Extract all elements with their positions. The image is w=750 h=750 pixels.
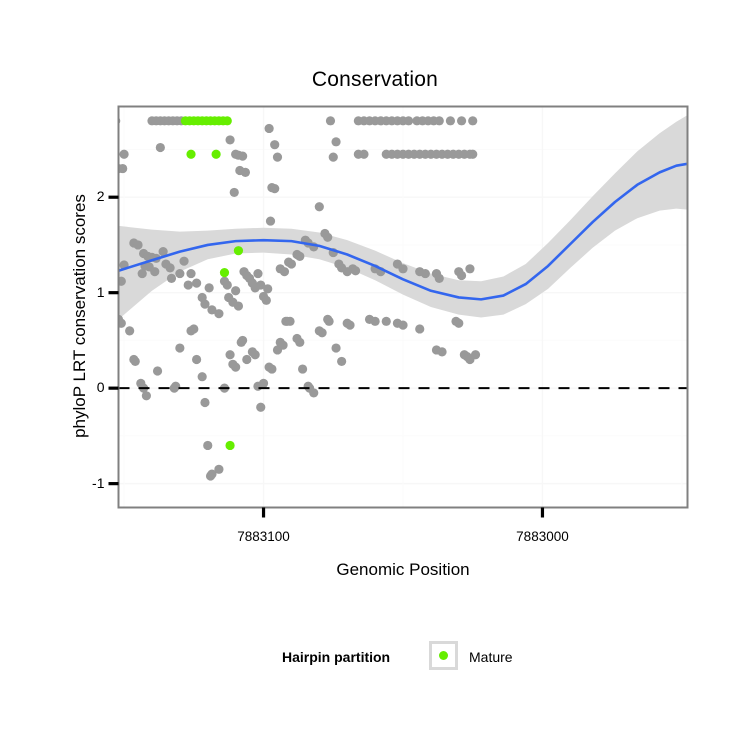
data-point xyxy=(133,240,142,249)
data-point xyxy=(298,364,307,373)
data-point xyxy=(214,309,223,318)
data-point xyxy=(192,279,201,288)
data-point xyxy=(267,364,276,373)
data-point xyxy=(415,324,424,333)
data-point xyxy=(238,336,247,345)
data-point xyxy=(100,116,109,125)
data-point xyxy=(468,150,477,159)
data-point xyxy=(171,382,180,391)
data-point xyxy=(205,283,214,292)
data-point xyxy=(337,357,346,366)
data-point xyxy=(189,324,198,333)
plot-canvas xyxy=(0,0,750,750)
data-point xyxy=(285,317,294,326)
data-point xyxy=(280,267,289,276)
data-point xyxy=(270,140,279,149)
data-point xyxy=(256,403,265,412)
data-point xyxy=(167,274,176,283)
legend-label-mature: Mature xyxy=(469,649,513,665)
data-point xyxy=(241,168,250,177)
data-point xyxy=(138,269,147,278)
data-point xyxy=(156,143,165,152)
data-point xyxy=(270,184,279,193)
data-point xyxy=(166,263,175,272)
data-point xyxy=(273,153,282,162)
data-point xyxy=(198,372,207,381)
data-point xyxy=(186,150,195,159)
data-point xyxy=(200,398,209,407)
data-point xyxy=(465,264,474,273)
data-point xyxy=(186,269,195,278)
data-point xyxy=(153,366,162,375)
data-point xyxy=(142,391,151,400)
data-point xyxy=(437,347,446,356)
data-point xyxy=(345,321,354,330)
data-point xyxy=(398,264,407,273)
data-point xyxy=(398,321,407,330)
data-point xyxy=(234,301,243,310)
y-axis-tick-label: -1 xyxy=(75,475,105,491)
data-point xyxy=(259,379,268,388)
data-point xyxy=(125,326,134,335)
legend-key-box xyxy=(429,641,458,670)
data-point xyxy=(175,269,184,278)
data-point xyxy=(220,268,229,277)
conservation-scatter-figure: Conservation phyloP LRT conservation sco… xyxy=(0,0,750,750)
data-point xyxy=(203,441,212,450)
data-point xyxy=(262,296,271,305)
data-point xyxy=(265,124,274,133)
data-point xyxy=(225,135,234,144)
data-point xyxy=(468,116,477,125)
data-point xyxy=(225,350,234,359)
data-point xyxy=(324,317,333,326)
y-axis-tick-label: 2 xyxy=(75,188,105,204)
legend-key-dot-mature xyxy=(439,651,448,660)
y-axis-tick-label: 1 xyxy=(75,284,105,300)
data-point xyxy=(184,280,193,289)
data-point xyxy=(266,216,275,225)
data-point xyxy=(238,152,247,161)
data-point xyxy=(251,350,260,359)
legend-title: Hairpin partition xyxy=(282,649,390,665)
data-point xyxy=(331,137,340,146)
data-point xyxy=(287,259,296,268)
data-point xyxy=(223,116,232,125)
data-point xyxy=(119,150,128,159)
x-axis-tick-label: 7883000 xyxy=(482,529,602,544)
data-point xyxy=(295,338,304,347)
data-point xyxy=(331,343,340,352)
data-point xyxy=(129,355,138,364)
data-point xyxy=(457,116,466,125)
data-point xyxy=(150,267,159,276)
data-point xyxy=(359,150,368,159)
data-point xyxy=(371,317,380,326)
data-point xyxy=(309,388,318,397)
data-point xyxy=(179,257,188,266)
data-point xyxy=(471,350,480,359)
data-point xyxy=(263,284,272,293)
data-point xyxy=(278,341,287,350)
data-point xyxy=(457,271,466,280)
y-axis-tick-label: 0 xyxy=(75,379,105,395)
data-point xyxy=(446,116,455,125)
data-point xyxy=(435,116,444,125)
data-point xyxy=(242,355,251,364)
data-point xyxy=(315,202,324,211)
data-point xyxy=(382,317,391,326)
data-point xyxy=(323,233,332,242)
data-point xyxy=(225,441,234,450)
data-point xyxy=(351,266,360,275)
data-point xyxy=(404,116,413,125)
data-point xyxy=(295,252,304,261)
data-point xyxy=(231,363,240,372)
data-point xyxy=(253,269,262,278)
data-point xyxy=(421,269,430,278)
data-point xyxy=(435,274,444,283)
data-point xyxy=(230,188,239,197)
data-point xyxy=(175,343,184,352)
data-point xyxy=(214,465,223,474)
data-point xyxy=(326,116,335,125)
data-point xyxy=(318,328,327,337)
x-axis-tick-label: 7883100 xyxy=(204,529,324,544)
data-point xyxy=(329,153,338,162)
data-point xyxy=(192,355,201,364)
data-point xyxy=(223,280,232,289)
data-point xyxy=(234,246,243,255)
data-point xyxy=(212,150,221,159)
data-point xyxy=(231,286,240,295)
data-point xyxy=(454,319,463,328)
